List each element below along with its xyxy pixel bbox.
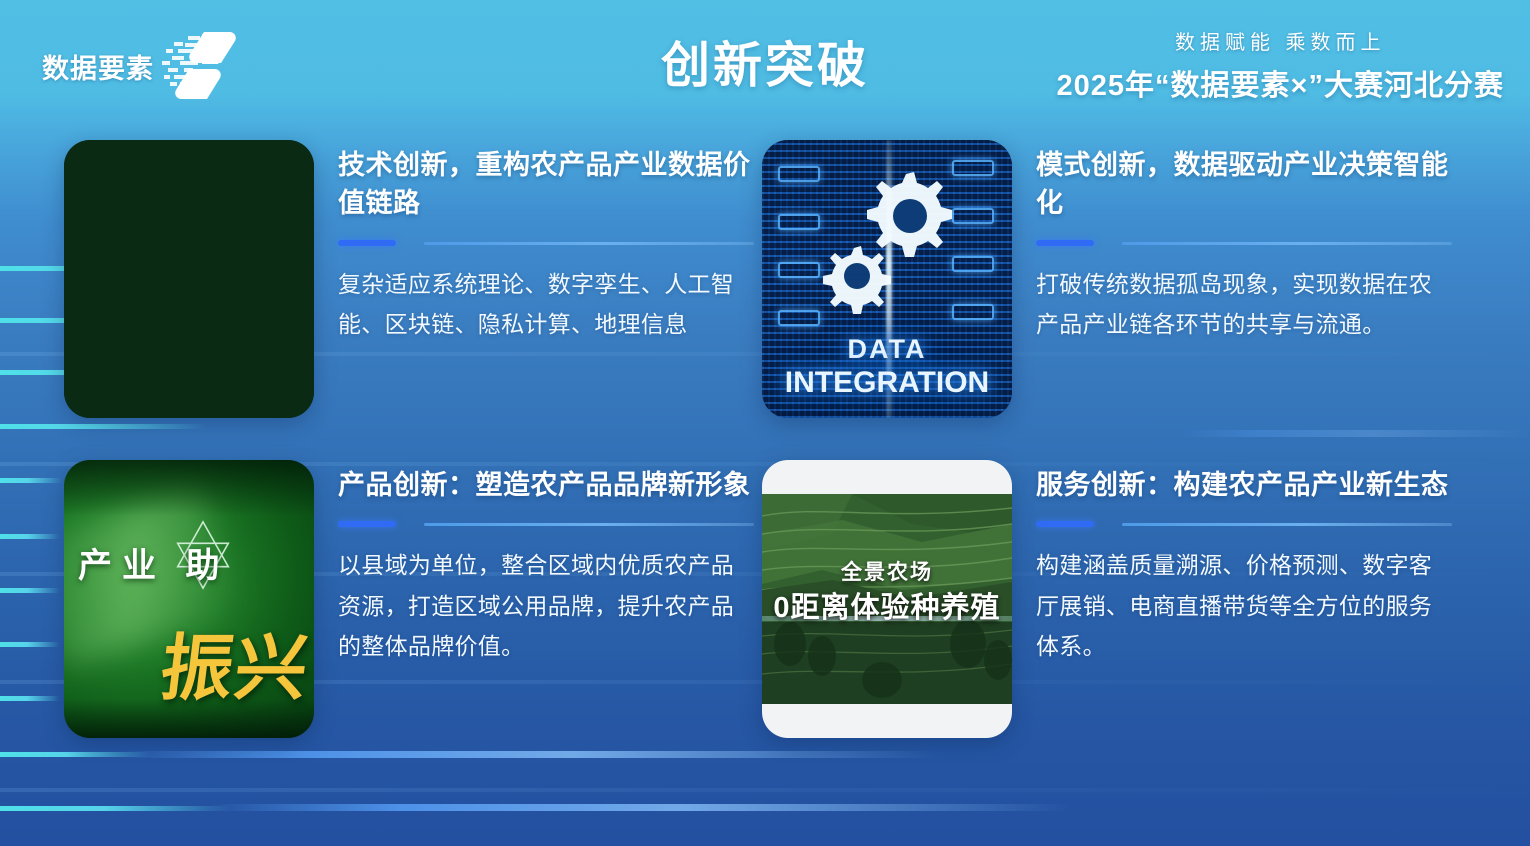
card-title: 模式创新，数据驱动产业决策智能化 xyxy=(1036,146,1452,223)
feature-card-4[interactable]: 全景农场 0距离体验种养殖 服务创新：构建农产品产业新生态 构建涵盖质量溯源、价… xyxy=(762,460,1452,738)
cards-row-1: 张家口承德 北京廊坊 唐山秦皇岛 保定邢台 邯郸石家庄 沧州衡水 技术创新，重构… xyxy=(0,140,1530,418)
data-integration-thumbnail: DATA INTEGRATION xyxy=(762,140,1012,418)
card-body: 打破传统数据孤岛现象，实现数据在农产品产业链各环节的共享与流通。 xyxy=(1036,264,1452,345)
thumb-text-line1: DATA xyxy=(762,334,1012,365)
card-body: 构建涵盖质量溯源、价格预测、数字客厅展销、电商直播带货等全方位的服务体系。 xyxy=(1036,545,1452,666)
card-divider xyxy=(1036,240,1452,246)
card-title: 服务创新：构建农产品产业新生态 xyxy=(1036,466,1452,504)
card-divider xyxy=(338,521,754,527)
cards-row-2: 产业 助 振兴 产品创新：塑造农产品品牌新形象 以县域为单位，整合区域内优质农产… xyxy=(0,460,1530,738)
thumb-text-line1: 全景农场 xyxy=(762,556,1012,586)
thumb-text-line2: 0距离体验种养殖 xyxy=(762,584,1012,626)
feature-card-2[interactable]: DATA INTEGRATION 模式创新，数据驱动产业决策智能化 打破传统数据… xyxy=(762,140,1452,418)
page-header: 数据要素 创新突破 xyxy=(0,0,1530,120)
card-divider xyxy=(1036,521,1452,527)
feature-card-3[interactable]: 产业 助 振兴 产品创新：塑造农产品品牌新形象 以县域为单位，整合区域内优质农产… xyxy=(64,460,754,738)
card-divider xyxy=(338,240,754,246)
feature-cards-grid: 张家口承德 北京廊坊 唐山秦皇岛 保定邢台 邯郸石家庄 沧州衡水 技术创新，重构… xyxy=(0,140,1530,738)
gears-icon xyxy=(762,140,1012,330)
industry-revitalization-thumbnail: 产业 助 振兴 xyxy=(64,460,314,738)
card-body: 以县域为单位，整合区域内优质农产品资源，打造区域公用品牌，提升农产品的整体品牌价… xyxy=(338,545,754,666)
competition-brand: 数据赋能 乘数而上 2025年“数据要素×”大赛河北分赛 xyxy=(1057,26,1504,104)
card-body: 复杂适应系统理论、数字孪生、人工智能、区块链、隐私计算、地理信息 xyxy=(338,264,754,345)
brand-name: 2025年“数据要素×”大赛河北分赛 xyxy=(1057,62,1504,104)
card-title: 产品创新：塑造农产品品牌新形象 xyxy=(338,466,754,504)
card-title: 技术创新，重构农产品产业数据价值链路 xyxy=(338,146,754,223)
thumb-text-line2: 振兴 xyxy=(156,609,314,714)
panoramic-farm-thumbnail: 全景农场 0距离体验种养殖 xyxy=(762,460,1012,738)
hebei-map-thumbnail: 张家口承德 北京廊坊 唐山秦皇岛 保定邢台 邯郸石家庄 沧州衡水 xyxy=(64,140,314,418)
thumb-text-line2: INTEGRATION xyxy=(762,366,1012,400)
feature-card-1[interactable]: 张家口承德 北京廊坊 唐山秦皇岛 保定邢台 邯郸石家庄 沧州衡水 技术创新，重构… xyxy=(64,140,754,418)
brand-slogan: 数据赋能 乘数而上 xyxy=(1057,26,1504,55)
thumb-text-line1: 产业 助 xyxy=(78,538,314,587)
